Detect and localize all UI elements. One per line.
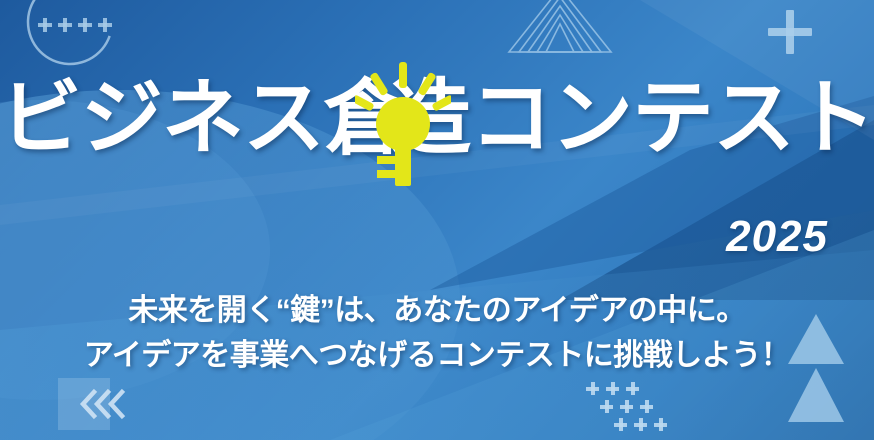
lightbulb-key-icon	[355, 62, 451, 190]
banner-subtitle: 未来を開く“鍵”は、あなたのアイデアの中に。 アイデアを事業へつなげるコンテスト…	[0, 288, 874, 378]
year-label: 2025	[726, 212, 828, 262]
title-part-right: 造コンテスト	[389, 78, 874, 160]
subtitle-line-2: アイデアを事業へつなげるコンテストに挑戦しよう！	[0, 333, 874, 378]
title-part-left: ビジネス倉	[0, 78, 405, 160]
contest-banner: ビジネス倉造コンテスト	[0, 0, 874, 440]
subtitle-line-1: 未来を開く“鍵”は、あなたのアイデアの中に。	[0, 288, 874, 333]
banner-content: ビジネス倉造コンテスト	[0, 0, 874, 440]
